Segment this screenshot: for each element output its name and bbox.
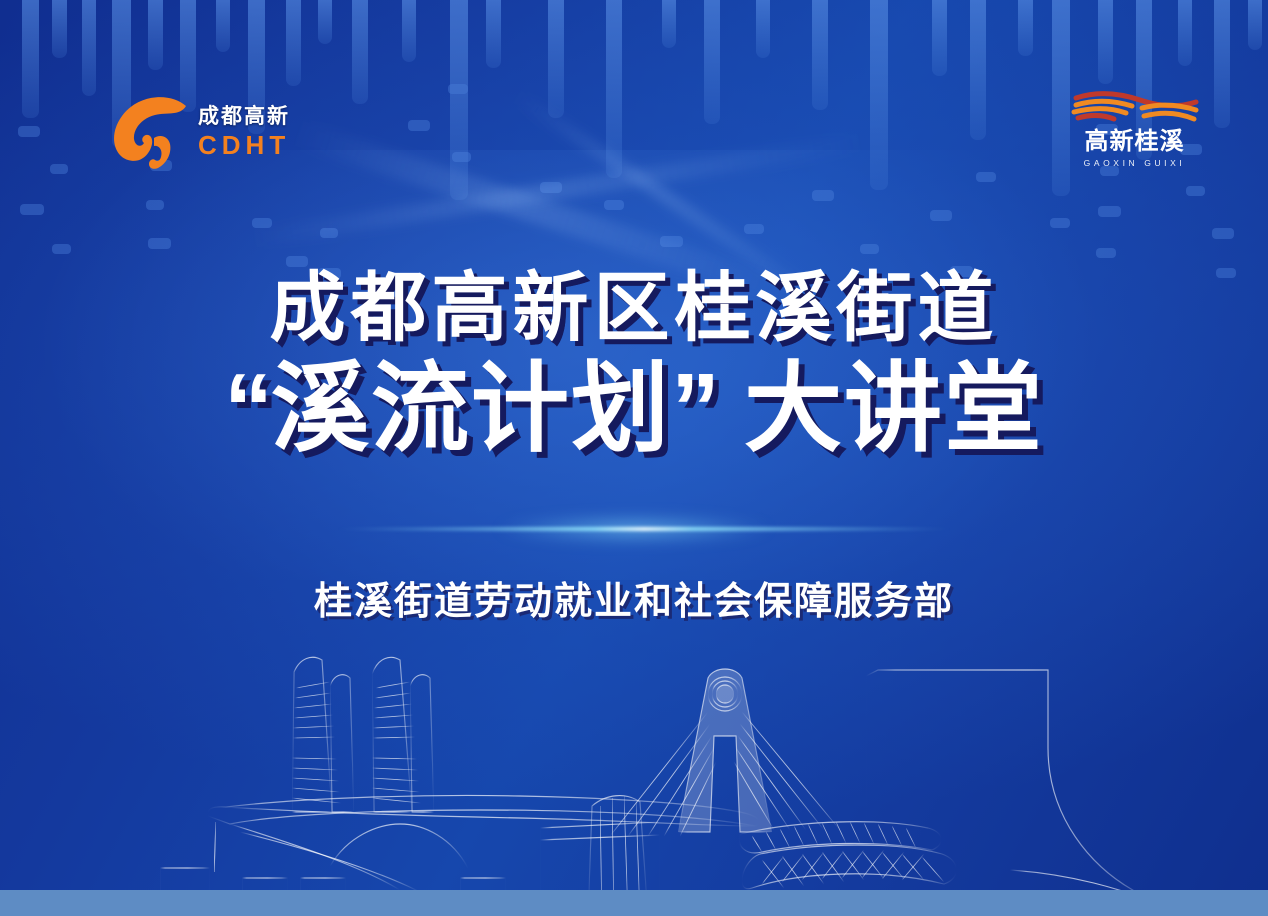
city-skyline-decor — [0, 616, 1268, 916]
headline-block: 成都高新区桂溪街道 “溪流计划”大讲堂 — [0, 268, 1268, 464]
headline-line2: “溪流计划”大讲堂 — [0, 354, 1268, 464]
cdht-logo-cn: 成都高新 — [198, 106, 290, 127]
headline-suffix: 大讲堂 — [744, 353, 1044, 463]
cdht-swoosh-mark — [108, 88, 194, 176]
guixi-logo: 高新桂溪 GAOXIN GUIXI — [1057, 88, 1212, 178]
poster-canvas: 成都高新 CDHT 高新桂溪 GAOXIN GUIXI 成都高新区桂溪街道 “溪… — [0, 0, 1268, 916]
guixi-logo-cn: 高新桂溪 — [1057, 130, 1212, 154]
cdht-logo-en: CDHT — [198, 132, 290, 158]
headline-line1: 成都高新区桂溪街道 — [0, 268, 1268, 350]
guixi-waves-mark — [1070, 88, 1200, 128]
cdht-logo: 成都高新 CDHT — [108, 88, 278, 178]
guixi-logo-en: GAOXIN GUIXI — [1057, 159, 1212, 168]
quote-close: ” — [671, 353, 718, 463]
quote-open: “ — [224, 353, 271, 463]
light-streak — [334, 527, 954, 531]
ground-band — [0, 890, 1268, 916]
program-name: 溪流计划 — [271, 353, 671, 463]
